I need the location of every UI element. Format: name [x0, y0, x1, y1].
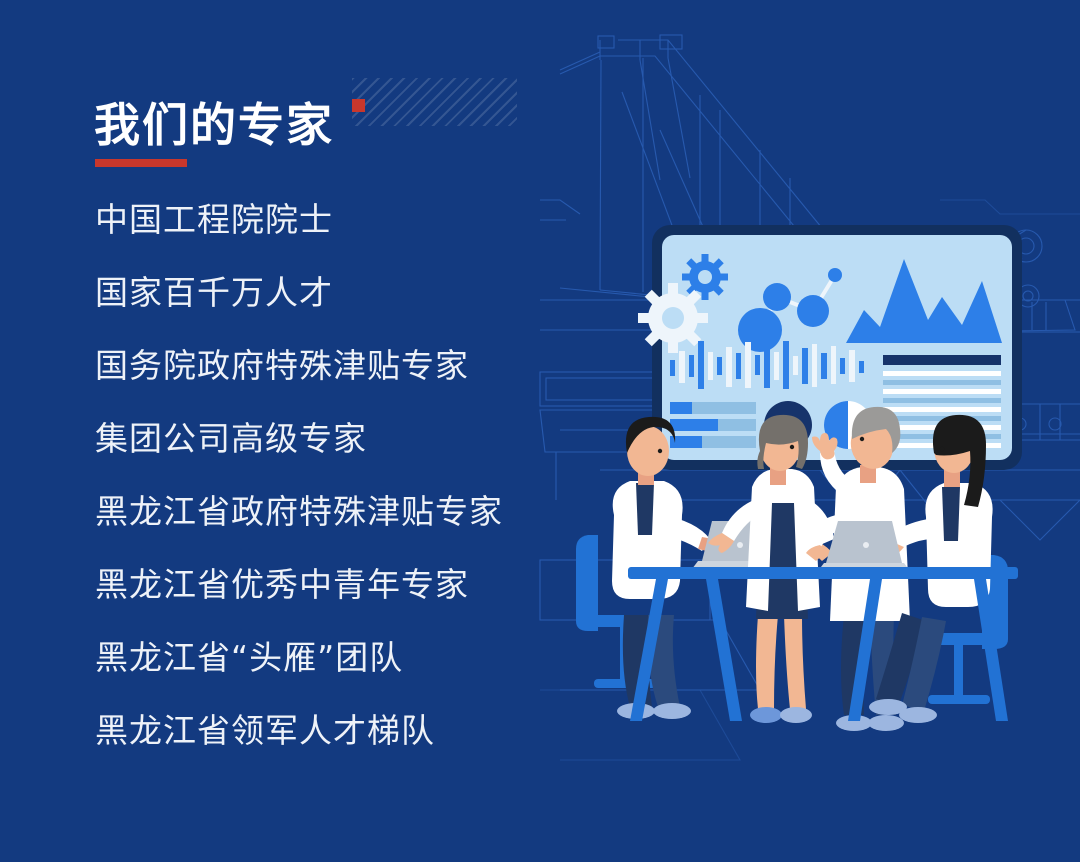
waveform-bars — [670, 341, 864, 389]
poster-canvas: 我们的专家 中国工程院院士 国家百千万人才 国务院政府特殊津贴专家 集团公司高级… — [0, 0, 1080, 862]
page-title: 我们的专家 — [94, 101, 334, 149]
list-item: 黑龙江省“头雁”团队 — [95, 641, 615, 674]
list-item: 黑龙江省领军人才梯队 — [95, 714, 615, 747]
gear-icon-large — [638, 283, 708, 353]
progress-bars — [670, 402, 756, 448]
red-square-accent — [352, 99, 365, 112]
list-item: 集团公司高级专家 — [95, 422, 615, 455]
list-item: 中国工程院院士 — [95, 203, 615, 236]
gear-icon-small — [682, 254, 728, 300]
list-item: 黑龙江省优秀中青年专家 — [95, 568, 615, 601]
team-illustration — [570, 215, 1070, 755]
list-item: 黑龙江省政府特殊津贴专家 — [95, 495, 615, 528]
title-underline-rule — [95, 159, 187, 167]
list-item: 国务院政府特殊津贴专家 — [95, 349, 615, 382]
credential-list: 中国工程院院士 国家百千万人才 国务院政府特殊津贴专家 集团公司高级专家 黑龙江… — [95, 203, 615, 747]
list-item: 国家百千万人才 — [95, 276, 615, 309]
hatch-band-decoration — [352, 78, 517, 126]
